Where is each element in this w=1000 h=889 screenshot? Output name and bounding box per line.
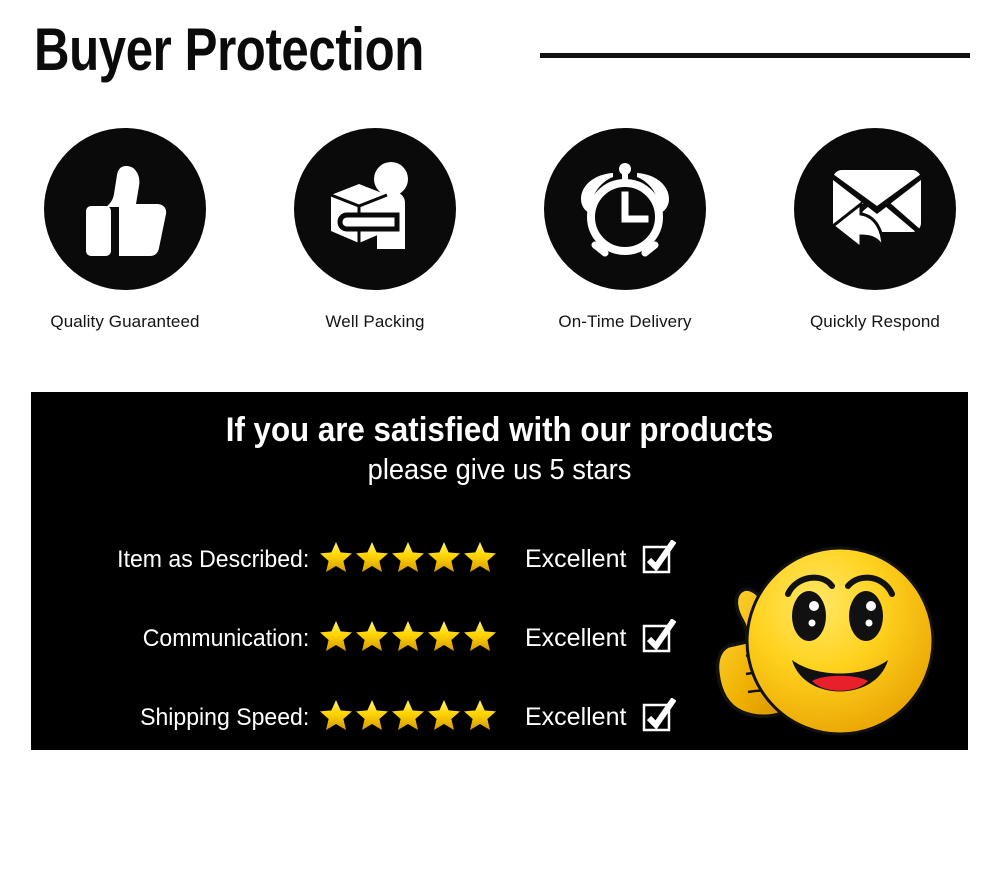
feature-item-well-packing: Well Packing xyxy=(250,128,500,373)
rating-label: Item as Described: xyxy=(42,546,315,574)
package-handover-icon xyxy=(319,153,431,265)
feature-item-quickly-respond: Quickly Respond xyxy=(750,128,1000,373)
star-rating xyxy=(319,698,497,737)
rating-verdict: Excellent xyxy=(525,624,626,653)
feature-label: Well Packing xyxy=(325,312,424,332)
star-icon xyxy=(355,619,389,658)
rating-verdict: Excellent xyxy=(525,545,626,574)
star-icon xyxy=(427,619,461,658)
rating-row: Shipping Speed: Excellent xyxy=(31,678,711,750)
star-icon xyxy=(427,698,461,737)
smiley-thumbs-up-icon xyxy=(700,538,940,753)
star-icon xyxy=(391,698,425,737)
feature-label: Quickly Respond xyxy=(810,312,940,332)
feature-icon-circle xyxy=(544,128,706,290)
checkbox-checked-icon[interactable] xyxy=(642,619,676,658)
feature-item-quality-guaranteed: Quality Guaranteed xyxy=(0,128,250,373)
star-icon xyxy=(427,540,461,579)
feature-label: On-Time Delivery xyxy=(558,312,691,332)
feature-list: Quality Guaranteed Well Packing xyxy=(0,128,1000,373)
feature-item-on-time-delivery: On-Time Delivery xyxy=(500,128,750,373)
header-rule xyxy=(540,53,970,58)
star-icon xyxy=(463,540,497,579)
star-rating xyxy=(319,540,497,579)
alarm-clock-icon xyxy=(569,153,681,265)
envelope-reply-icon xyxy=(817,154,933,264)
star-rating xyxy=(319,619,497,658)
rating-row: Communication: Excellent xyxy=(31,599,711,678)
page-header: Buyer Protection xyxy=(0,0,1000,110)
star-icon xyxy=(319,619,353,658)
checkbox-checked-icon[interactable] xyxy=(642,698,676,737)
star-icon xyxy=(319,698,353,737)
page-title: Buyer Protection xyxy=(34,14,424,86)
feature-label: Quality Guaranteed xyxy=(50,312,199,332)
rating-label: Shipping Speed: xyxy=(42,704,315,732)
feature-icon-circle xyxy=(44,128,206,290)
rating-verdict: Excellent xyxy=(525,703,626,732)
rating-row-list: Item as Described: Excellent Communicati… xyxy=(31,520,711,750)
rating-label: Communication: xyxy=(42,625,315,653)
rating-row: Item as Described: Excellent xyxy=(31,520,711,599)
star-icon xyxy=(391,619,425,658)
panel-subheading: please give us 5 stars xyxy=(59,450,940,490)
feature-icon-circle xyxy=(794,128,956,290)
star-icon xyxy=(319,540,353,579)
star-icon xyxy=(355,698,389,737)
star-icon xyxy=(463,619,497,658)
star-icon xyxy=(463,698,497,737)
panel-heading: If you are satisfied with our products xyxy=(68,408,930,452)
star-icon xyxy=(391,540,425,579)
checkbox-checked-icon[interactable] xyxy=(642,540,676,579)
thumbs-up-icon xyxy=(70,154,180,264)
star-icon xyxy=(355,540,389,579)
feature-icon-circle xyxy=(294,128,456,290)
